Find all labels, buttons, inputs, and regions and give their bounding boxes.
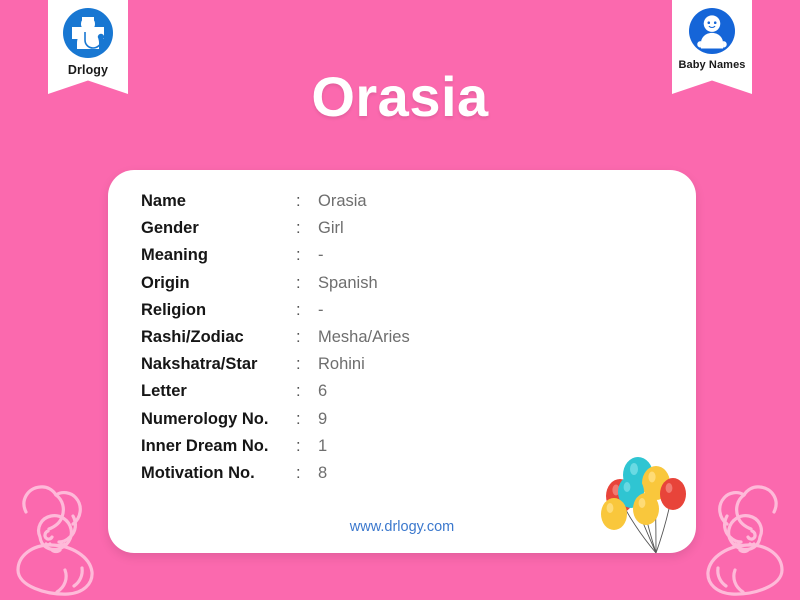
mother-and-baby-icon-right: [686, 474, 798, 600]
table-row: Numerology No. : 9: [141, 410, 471, 437]
doctor-medical-cross-icon: [63, 8, 113, 58]
row-label: Nakshatra/Star: [141, 355, 296, 374]
table-row: Rashi/Zodiac : Mesha/Aries: [141, 328, 471, 355]
row-value: 9: [318, 410, 327, 429]
row-label: Religion: [141, 301, 296, 320]
table-row: Letter : 6: [141, 382, 471, 409]
row-separator: :: [296, 246, 318, 265]
row-value: Rohini: [318, 355, 365, 374]
row-label: Numerology No.: [141, 410, 296, 429]
row-value: Orasia: [318, 192, 367, 211]
row-value: 1: [318, 437, 327, 456]
page-title: Orasia: [0, 64, 800, 129]
table-row: Religion : -: [141, 301, 471, 328]
table-row: Gender : Girl: [141, 219, 471, 246]
row-label: Motivation No.: [141, 464, 296, 483]
row-separator: :: [296, 274, 318, 293]
poster-canvas: Drlogy Baby Names Orasia Name : Orasia G…: [0, 0, 800, 600]
row-value: -: [318, 301, 324, 320]
row-separator: :: [296, 219, 318, 238]
row-separator: :: [296, 437, 318, 456]
row-value: Spanish: [318, 274, 378, 293]
row-separator: :: [296, 382, 318, 401]
row-separator: :: [296, 355, 318, 374]
row-value: 6: [318, 382, 327, 401]
row-value: -: [318, 246, 324, 265]
row-value: Mesha/Aries: [318, 328, 410, 347]
table-row: Origin : Spanish: [141, 274, 471, 301]
name-details-card: Name : Orasia Gender : Girl Meaning : - …: [108, 170, 696, 553]
row-label: Inner Dream No.: [141, 437, 296, 456]
row-label: Name: [141, 192, 296, 211]
mother-and-baby-icon-left: [2, 474, 114, 600]
table-row: Name : Orasia: [141, 192, 471, 219]
row-value: Girl: [318, 219, 344, 238]
row-label: Rashi/Zodiac: [141, 328, 296, 347]
table-row: Motivation No. : 8: [141, 464, 471, 491]
site-url[interactable]: www.drlogy.com: [108, 519, 696, 535]
row-label: Meaning: [141, 246, 296, 265]
balloons-icon: [600, 451, 692, 553]
row-separator: :: [296, 410, 318, 429]
row-label: Letter: [141, 382, 296, 401]
row-label: Origin: [141, 274, 296, 293]
row-separator: :: [296, 464, 318, 483]
row-separator: :: [296, 301, 318, 320]
row-label: Gender: [141, 219, 296, 238]
row-separator: :: [296, 192, 318, 211]
row-value: 8: [318, 464, 327, 483]
table-row: Meaning : -: [141, 246, 471, 273]
name-details-table: Name : Orasia Gender : Girl Meaning : - …: [141, 192, 471, 491]
table-row: Nakshatra/Star : Rohini: [141, 355, 471, 382]
row-separator: :: [296, 328, 318, 347]
table-row: Inner Dream No. : 1: [141, 437, 471, 464]
baby-icon: [689, 8, 735, 54]
